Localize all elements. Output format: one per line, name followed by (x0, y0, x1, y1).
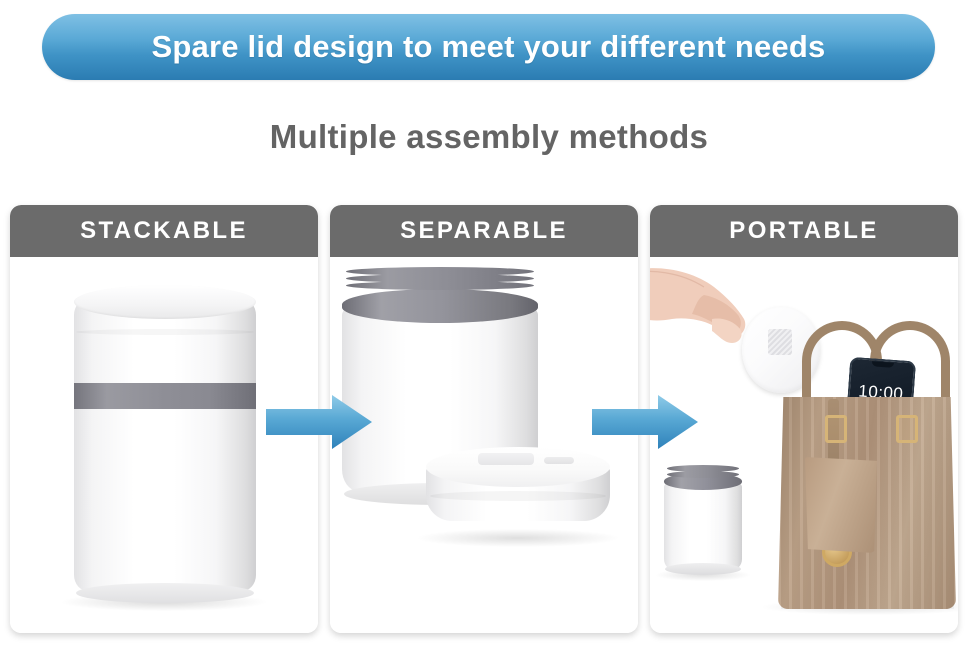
small-jar-base (665, 563, 741, 575)
panel-header-portable: PORTABLE (650, 205, 958, 257)
small-jar-body (664, 483, 742, 571)
container-top-lid (74, 285, 256, 319)
arrow-right-icon (592, 393, 700, 451)
headline-text: Spare lid design to meet your different … (152, 29, 826, 65)
detached-lid-illustration (426, 447, 610, 539)
container-lid-seam (76, 329, 254, 335)
jar-thread-rings (346, 267, 534, 297)
phone-notch (872, 361, 894, 368)
jar-thread-ring (346, 281, 534, 290)
panel-header-separable: SEPARABLE (330, 205, 638, 257)
headline-banner: Spare lid design to meet your different … (42, 14, 935, 80)
matching-pouch (805, 457, 877, 553)
container-base (76, 583, 254, 603)
small-jar-thread-ring (667, 471, 739, 478)
small-jar-illustration (664, 465, 742, 575)
container-gray-band (74, 383, 256, 409)
container-band-cap (74, 403, 256, 415)
lid-tab (478, 453, 534, 465)
lid-seam (430, 491, 606, 501)
panel-header-label: SEPARABLE (400, 217, 568, 245)
panel-header-label: PORTABLE (729, 217, 878, 245)
subtitle-text: Multiple assembly methods (0, 118, 978, 156)
panel-header-stackable: STACKABLE (10, 205, 318, 257)
panels-row: STACKABLE SEPARABLE (10, 205, 958, 633)
bag-buckle-right (896, 415, 918, 443)
arrow-separable-to-portable (592, 393, 700, 451)
lid-tab-secondary (544, 457, 574, 464)
stacked-container-illustration (74, 285, 256, 603)
arrow-right-icon (266, 393, 374, 451)
small-jar-thread-rings (667, 465, 739, 479)
container-body (74, 299, 256, 591)
bag-buckle-left (825, 415, 847, 443)
panel-header-label: STACKABLE (80, 217, 248, 245)
arrow-stackable-to-separable (266, 393, 374, 451)
